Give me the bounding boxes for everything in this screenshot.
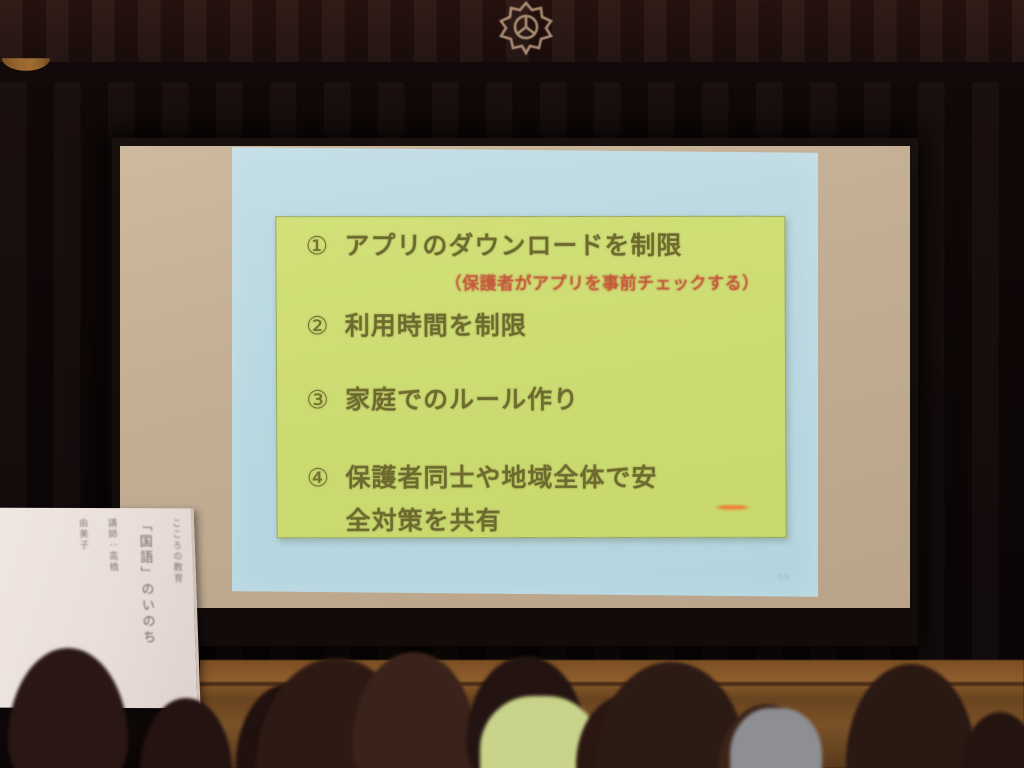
list-marker-1: ① <box>290 231 344 261</box>
list-marker-2: ② <box>291 311 345 341</box>
slide-list-item-1: ① アプリのダウンロードを制限 <box>290 231 682 261</box>
audience-head <box>8 648 128 768</box>
list-marker-4: ④ <box>291 463 345 493</box>
slide-note-1: （保護者がアプリを事前チェックする） <box>445 269 760 294</box>
list-text-4: 保護者同士や地域全体で安 <box>345 464 657 492</box>
list-text-1: アプリのダウンロードを制限 <box>344 232 682 260</box>
list-text-4-continued: 全対策を共有 <box>346 501 502 537</box>
list-marker-3: ③ <box>291 385 345 415</box>
laser-pointer-mark <box>716 505 750 510</box>
audience-head <box>140 698 232 768</box>
slide-list-item-3: ③ 家庭でのルール作り <box>291 385 579 415</box>
school-crest-emblem <box>494 0 558 56</box>
projected-slide: ① アプリのダウンロードを制限 （保護者がアプリを事前チェックする） ② 利用時… <box>232 147 818 597</box>
list-text-2: 利用時間を制限 <box>345 312 527 340</box>
list-text-3: 家庭でのルール作り <box>345 386 579 414</box>
slide-page-number: 09 <box>778 572 790 582</box>
slide-list-item-2: ② 利用時間を制限 <box>291 311 527 341</box>
audience-row <box>0 600 1024 768</box>
auditorium-scene: ① アプリのダウンロードを制限 （保護者がアプリを事前チェックする） ② 利用時… <box>0 0 1024 768</box>
audience-head <box>846 664 976 768</box>
slide-list-item-4: ④ 保護者同士や地域全体で安 <box>291 463 657 493</box>
slide-content-box: ① アプリのダウンロードを制限 （保護者がアプリを事前チェックする） ② 利用時… <box>275 216 786 538</box>
